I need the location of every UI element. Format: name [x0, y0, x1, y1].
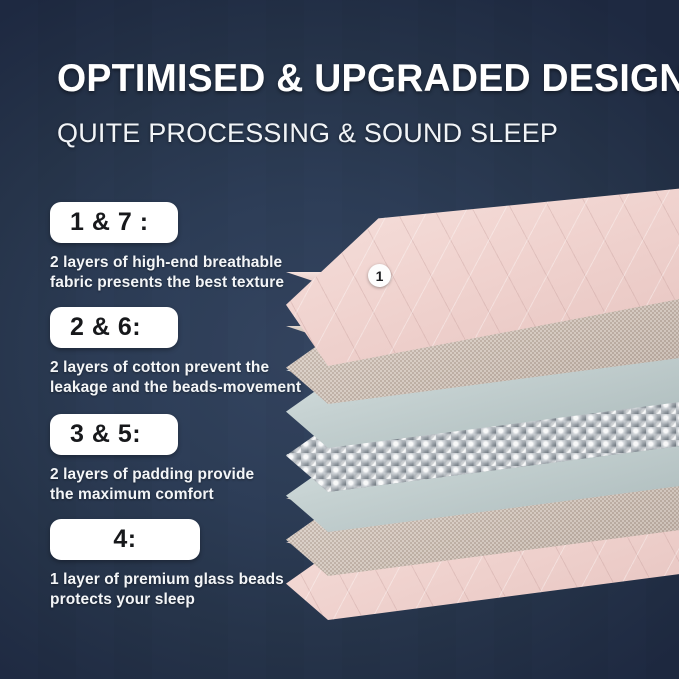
callout-line: the maximum comfort — [50, 485, 310, 505]
layer-badge-1: 1 — [368, 264, 391, 287]
callout-3-and-5: 3 & 5: 2 layers of padding provide the m… — [50, 414, 310, 505]
callout-description-2-and-6: 2 layers of cotton prevent the leakage a… — [50, 358, 310, 398]
page-subtitle: QUITE PROCESSING & SOUND SLEEP — [57, 117, 657, 149]
callout-description-1-and-7: 2 layers of high-end breathable fabric p… — [50, 253, 310, 293]
callout-line: 2 layers of cotton prevent the — [50, 358, 310, 378]
layer-1: 1 — [286, 186, 679, 376]
chip-label-2-and-6: 2 & 6: — [70, 313, 141, 341]
callout-1-and-7: 1 & 7 : 2 layers of high-end breathable … — [50, 202, 310, 293]
chip-2-and-6: 2 & 6: — [50, 307, 178, 348]
callout-line: leakage and the beads-movement — [50, 378, 310, 398]
callout-line: 1 layer of premium glass beads — [50, 570, 310, 590]
chip-label-1-and-7: 1 & 7 : — [70, 208, 149, 236]
callout-line: 2 layers of high-end breathable — [50, 253, 310, 273]
callout-2-and-6: 2 & 6: 2 layers of cotton prevent the le… — [50, 307, 310, 398]
exploded-layer-diagram: 7 6 5 4 — [286, 150, 679, 650]
page-title: OPTIMISED & UPGRADED DESIGN — [57, 57, 633, 101]
infographic-canvas: OPTIMISED & UPGRADED DESIGN QUITE PROCES… — [0, 0, 679, 679]
callout-line: fabric presents the best texture — [50, 273, 310, 293]
callout-description-3-and-5: 2 layers of padding provide the maximum … — [50, 465, 310, 505]
chip-1-and-7: 1 & 7 : — [50, 202, 178, 243]
chip-3-and-5: 3 & 5: — [50, 414, 178, 455]
callout-description-4: 1 layer of premium glass beads protects … — [50, 570, 310, 610]
chip-4: 4: — [50, 519, 200, 560]
chip-label-4: 4: — [113, 525, 136, 553]
callout-4: 4: 1 layer of premium glass beads protec… — [50, 519, 310, 610]
callout-line: protects your sleep — [50, 590, 310, 610]
callout-line: 2 layers of padding provide — [50, 465, 310, 485]
chip-label-3-and-5: 3 & 5: — [70, 420, 141, 448]
